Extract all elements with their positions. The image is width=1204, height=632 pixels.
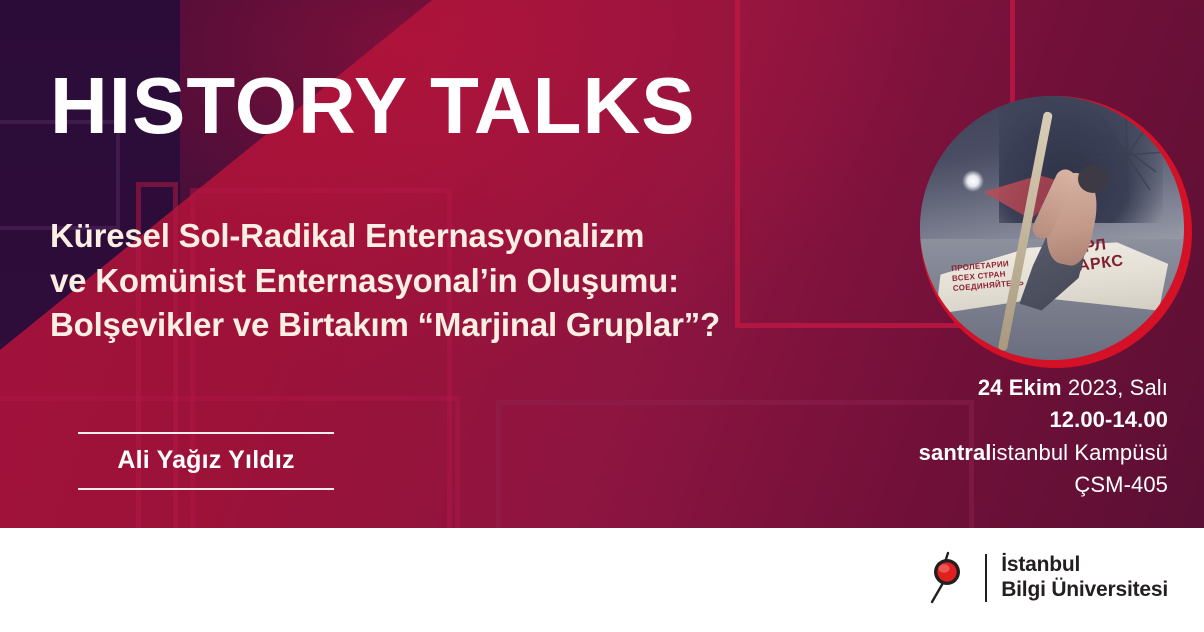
speaker-name: Ali Yağız Yıldız xyxy=(78,434,334,488)
subtitle-line-1: Küresel Sol-Radikal Enternasyonalizm xyxy=(50,214,870,259)
pin-icon xyxy=(923,550,971,606)
event-poster: HISTORY TALKS Küresel Sol-Radikal Entern… xyxy=(0,0,1204,632)
logo-line-1: İstanbul xyxy=(1001,553,1168,578)
illustration-figure-head xyxy=(1078,165,1108,193)
campus-name: istanbul Kampüsü xyxy=(992,440,1168,465)
illustration-ship-rigging xyxy=(1090,112,1168,208)
speaker-block: Ali Yağız Yıldız xyxy=(78,432,334,490)
logo-wordmark: İstanbul Bilgi Üniversitesi xyxy=(1001,553,1168,603)
poster-subtitle: Küresel Sol-Radikal Enternasyonalizm ve … xyxy=(50,214,870,348)
poster-headline: HISTORY TALKS xyxy=(50,66,696,146)
bilgi-university-logo: İstanbul Bilgi Üniversitesi xyxy=(923,550,1168,606)
illustration-star xyxy=(962,170,984,192)
event-details: 24 Ekim 2023, Salı 12.00-14.00 santralis… xyxy=(919,372,1168,501)
event-date-year: 2023, Salı xyxy=(1062,375,1168,400)
event-room: ÇSM-405 xyxy=(919,469,1168,501)
event-campus: santralistanbul Kampüsü xyxy=(919,437,1168,469)
event-time: 12.00-14.00 xyxy=(919,404,1168,436)
poster-banner: HISTORY TALKS Küresel Sol-Radikal Entern… xyxy=(0,0,1204,528)
logo-line-2: Bilgi Üniversitesi xyxy=(1001,578,1168,603)
karl-marx-raft-illustration: ПРОЛЕТАРИИВСЕХ СТРАНСОЕДИНЯЙТЕСЬ КАРЛМАР… xyxy=(920,96,1184,360)
logo-divider xyxy=(985,554,987,602)
subtitle-line-2: ve Komünist Enternasyonal’in Oluşumu: xyxy=(50,259,870,304)
event-date-day: 24 Ekim xyxy=(978,375,1062,400)
poster-footer: İstanbul Bilgi Üniversitesi xyxy=(0,528,1204,632)
subtitle-line-3: Bolşevikler ve Birtakım “Marjinal Grupla… xyxy=(50,303,870,348)
illustration-circle: ПРОЛЕТАРИИВСЕХ СТРАНСОЕДИНЯЙТЕСЬ КАРЛМАР… xyxy=(920,96,1192,368)
speaker-rule-top xyxy=(78,432,334,434)
speaker-rule-bottom xyxy=(78,488,334,490)
decorative-frame-bottom-right xyxy=(496,400,974,528)
event-date: 24 Ekim 2023, Salı xyxy=(919,372,1168,404)
campus-brand: santral xyxy=(919,440,992,465)
